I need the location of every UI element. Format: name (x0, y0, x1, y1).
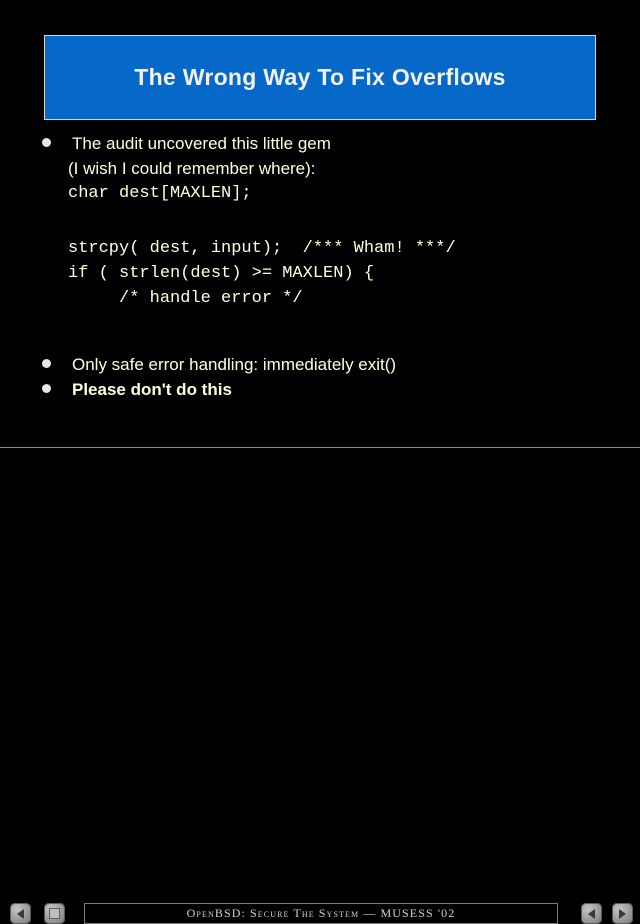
bullets-spacer-2 (0, 341, 640, 352)
code-spacer (0, 206, 640, 236)
stop-button[interactable] (44, 903, 65, 924)
code-declaration-label: char dest[MAXLEN]; (0, 181, 252, 206)
triangle-right-icon (612, 903, 633, 924)
slide-body: The audit uncovered this little gem (I w… (0, 131, 640, 402)
first-slide-button[interactable] (10, 903, 31, 924)
triangle-left-icon (581, 903, 602, 924)
slide-title: The Wrong Way To Fix Overflows (134, 64, 506, 91)
parenthetical-line: (I wish I could remember where): (0, 156, 640, 181)
bullet-item-2: Only safe error handling: immediately ex… (0, 352, 640, 377)
code-line-1-label: strcpy( dest, input); /*** Wham! ***/ (0, 236, 456, 261)
next-slide-button[interactable] (612, 903, 633, 924)
footer-title-label: OpenBSD: Secure The System — MUSESS '02 (187, 906, 456, 921)
code-line-2-label: if ( strlen(dest) >= MAXLEN) { (0, 261, 374, 286)
slide-title-banner: The Wrong Way To Fix Overflows (44, 35, 596, 120)
bullet-item-1: The audit uncovered this little gem (0, 131, 640, 156)
code-line-3-label: /* handle error */ (0, 286, 303, 311)
bullet-3-label: Please don't do this (0, 377, 232, 402)
code-line-1: strcpy( dest, input); /*** Wham! ***/ (0, 236, 640, 261)
bullet-item-3: Please don't do this (0, 377, 640, 402)
bullet-dot-icon (42, 138, 51, 147)
square-stop-icon (44, 903, 65, 924)
bullet-dot-icon (42, 359, 51, 368)
code-line-3: /* handle error */ (0, 286, 640, 311)
bullet-2-label: Only safe error handling: immediately ex… (0, 352, 396, 377)
code-declaration-line: char dest[MAXLEN]; (0, 181, 640, 206)
presentation-slide: The Wrong Way To Fix Overflows The audit… (0, 0, 640, 480)
slide-navigation-bar: OpenBSD: Secure The System — MUSESS '02 (0, 448, 640, 480)
bullets-spacer (0, 311, 640, 341)
triangle-left-icon (10, 903, 31, 924)
parenthetical-label: (I wish I could remember where): (0, 156, 316, 181)
footer-title-box: OpenBSD: Secure The System — MUSESS '02 (84, 903, 558, 924)
bullet-dot-icon (42, 384, 51, 393)
code-line-2: if ( strlen(dest) >= MAXLEN) { (0, 261, 640, 286)
previous-slide-button[interactable] (581, 903, 602, 924)
